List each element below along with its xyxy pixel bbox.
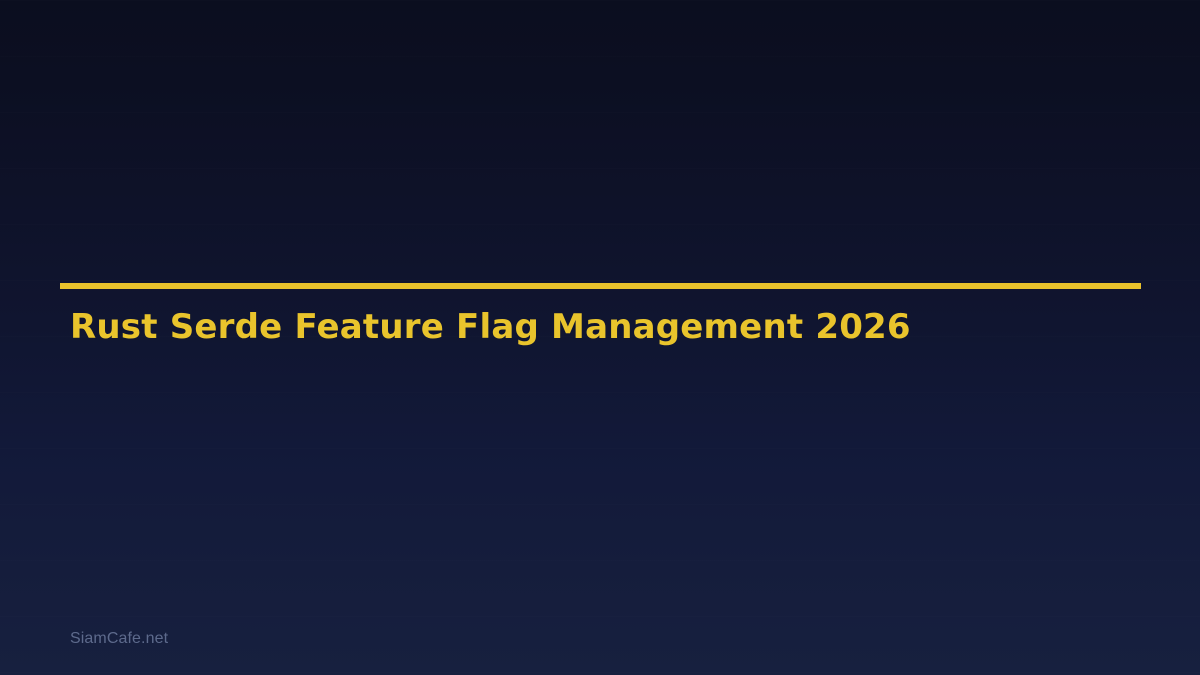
title-slide: Rust Serde Feature Flag Management 2026 … <box>0 0 1200 675</box>
title-block: Rust Serde Feature Flag Management 2026 <box>60 283 1141 347</box>
page-title: Rust Serde Feature Flag Management 2026 <box>70 307 1141 347</box>
accent-bar <box>60 283 1141 289</box>
watermark-label: SiamCafe.net <box>70 629 168 649</box>
